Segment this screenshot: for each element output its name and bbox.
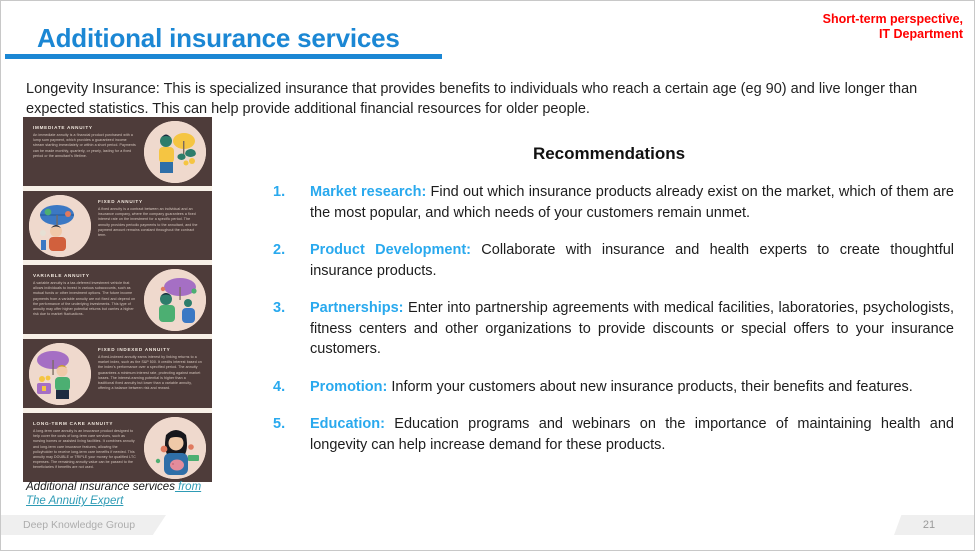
- intro-paragraph: Longevity Insurance: This is specialized…: [26, 79, 954, 119]
- footer-organization: Deep Knowledge Group: [23, 519, 135, 531]
- list-item-number: 3.: [273, 298, 285, 319]
- list-item-number: 1.: [273, 182, 285, 203]
- list-item-text: Enter into partnership agreements with m…: [310, 300, 954, 357]
- image-caption: Additional insurance services from The A…: [26, 480, 221, 508]
- annuity-card: IMMEDIATE ANNUITY An immediate annuity i…: [23, 117, 212, 186]
- woman-with-piggy-bank-icon: [144, 417, 206, 479]
- corner-note-line-1: Short-term perspective,: [823, 12, 963, 27]
- annuity-card-body: A fixed-indexed annuity earns interest b…: [98, 355, 202, 391]
- page-number: 21: [894, 519, 964, 531]
- list-item-label: Product Development:: [310, 242, 471, 258]
- list-item-number: 5.: [273, 414, 285, 435]
- annuity-card-text: FIXED INDEXED ANNUITY A fixed-indexed an…: [98, 347, 202, 391]
- list-item: 2. Product Development: Collaborate with…: [269, 240, 954, 281]
- list-item-text: Inform your customers about new insuranc…: [387, 379, 913, 395]
- annuity-card-text: IMMEDIATE ANNUITY An immediate annuity i…: [33, 125, 137, 159]
- list-item: 1. Market research: Find out which insur…: [269, 182, 954, 223]
- page-title: Additional insurance services: [37, 23, 400, 54]
- person-under-blue-umbrella-icon: [29, 195, 91, 257]
- annuity-card-text: FIXED ANNUITY A fixed annuity is a contr…: [98, 199, 202, 238]
- annuity-card: LONG-TERM CARE ANNUITY A long-term care …: [23, 413, 212, 482]
- annuity-card-title: IMMEDIATE ANNUITY: [33, 125, 137, 130]
- image-caption-text: Additional insurance services: [26, 481, 175, 493]
- title-underline-rule: [5, 54, 442, 59]
- annuity-card-title: FIXED INDEXED ANNUITY: [98, 347, 202, 352]
- slide: Additional insurance services Short-term…: [0, 0, 975, 551]
- annuity-card-text: VARIABLE ANNUITY A variable annuity is a…: [33, 273, 137, 317]
- annuity-card-title: FIXED ANNUITY: [98, 199, 202, 204]
- annuity-card-body: A variable annuity is a tax-deferred inv…: [33, 281, 137, 317]
- corner-note: Short-term perspective, IT Department: [823, 12, 963, 42]
- recommendations-heading: Recommendations: [269, 144, 949, 164]
- annuity-card: FIXED ANNUITY A fixed annuity is a contr…: [23, 191, 212, 260]
- person-with-purple-umbrella-icon: [144, 269, 206, 331]
- list-item-number: 4.: [273, 377, 285, 398]
- list-item-number: 2.: [273, 240, 285, 261]
- annuity-infographic: IMMEDIATE ANNUITY An immediate annuity i…: [23, 117, 212, 482]
- person-with-umbrella-and-money-bags-icon: [144, 121, 206, 183]
- list-item: 4. Promotion: Inform your customers abou…: [269, 377, 954, 398]
- annuity-card-title: LONG-TERM CARE ANNUITY: [33, 421, 137, 426]
- list-item-label: Promotion:: [310, 379, 387, 395]
- list-item-label: Partnerships:: [310, 300, 403, 316]
- list-item: 3. Partnerships: Enter into partnership …: [269, 298, 954, 360]
- annuity-card-body: A long-term care annuity is an insurance…: [33, 429, 137, 471]
- annuity-card-text: LONG-TERM CARE ANNUITY A long-term care …: [33, 421, 137, 471]
- annuity-card-body: A fixed annuity is a contract between an…: [98, 207, 202, 238]
- annuity-card-title: VARIABLE ANNUITY: [33, 273, 137, 278]
- annuity-card-body: An immediate annuity is a financial prod…: [33, 133, 137, 159]
- annuity-card: FIXED INDEXED ANNUITY A fixed-indexed an…: [23, 339, 212, 408]
- list-item-label: Education:: [310, 416, 385, 432]
- list-item-text: Education programs and webinars on the i…: [310, 416, 954, 453]
- list-item: 5. Education: Education programs and web…: [269, 414, 954, 455]
- recommendations-list: 1. Market research: Find out which insur…: [269, 182, 954, 455]
- person-with-purple-umbrella-and-coins-icon: [29, 343, 91, 405]
- list-item-label: Market research:: [310, 184, 426, 200]
- corner-note-line-2: IT Department: [823, 27, 963, 42]
- annuity-card: VARIABLE ANNUITY A variable annuity is a…: [23, 265, 212, 334]
